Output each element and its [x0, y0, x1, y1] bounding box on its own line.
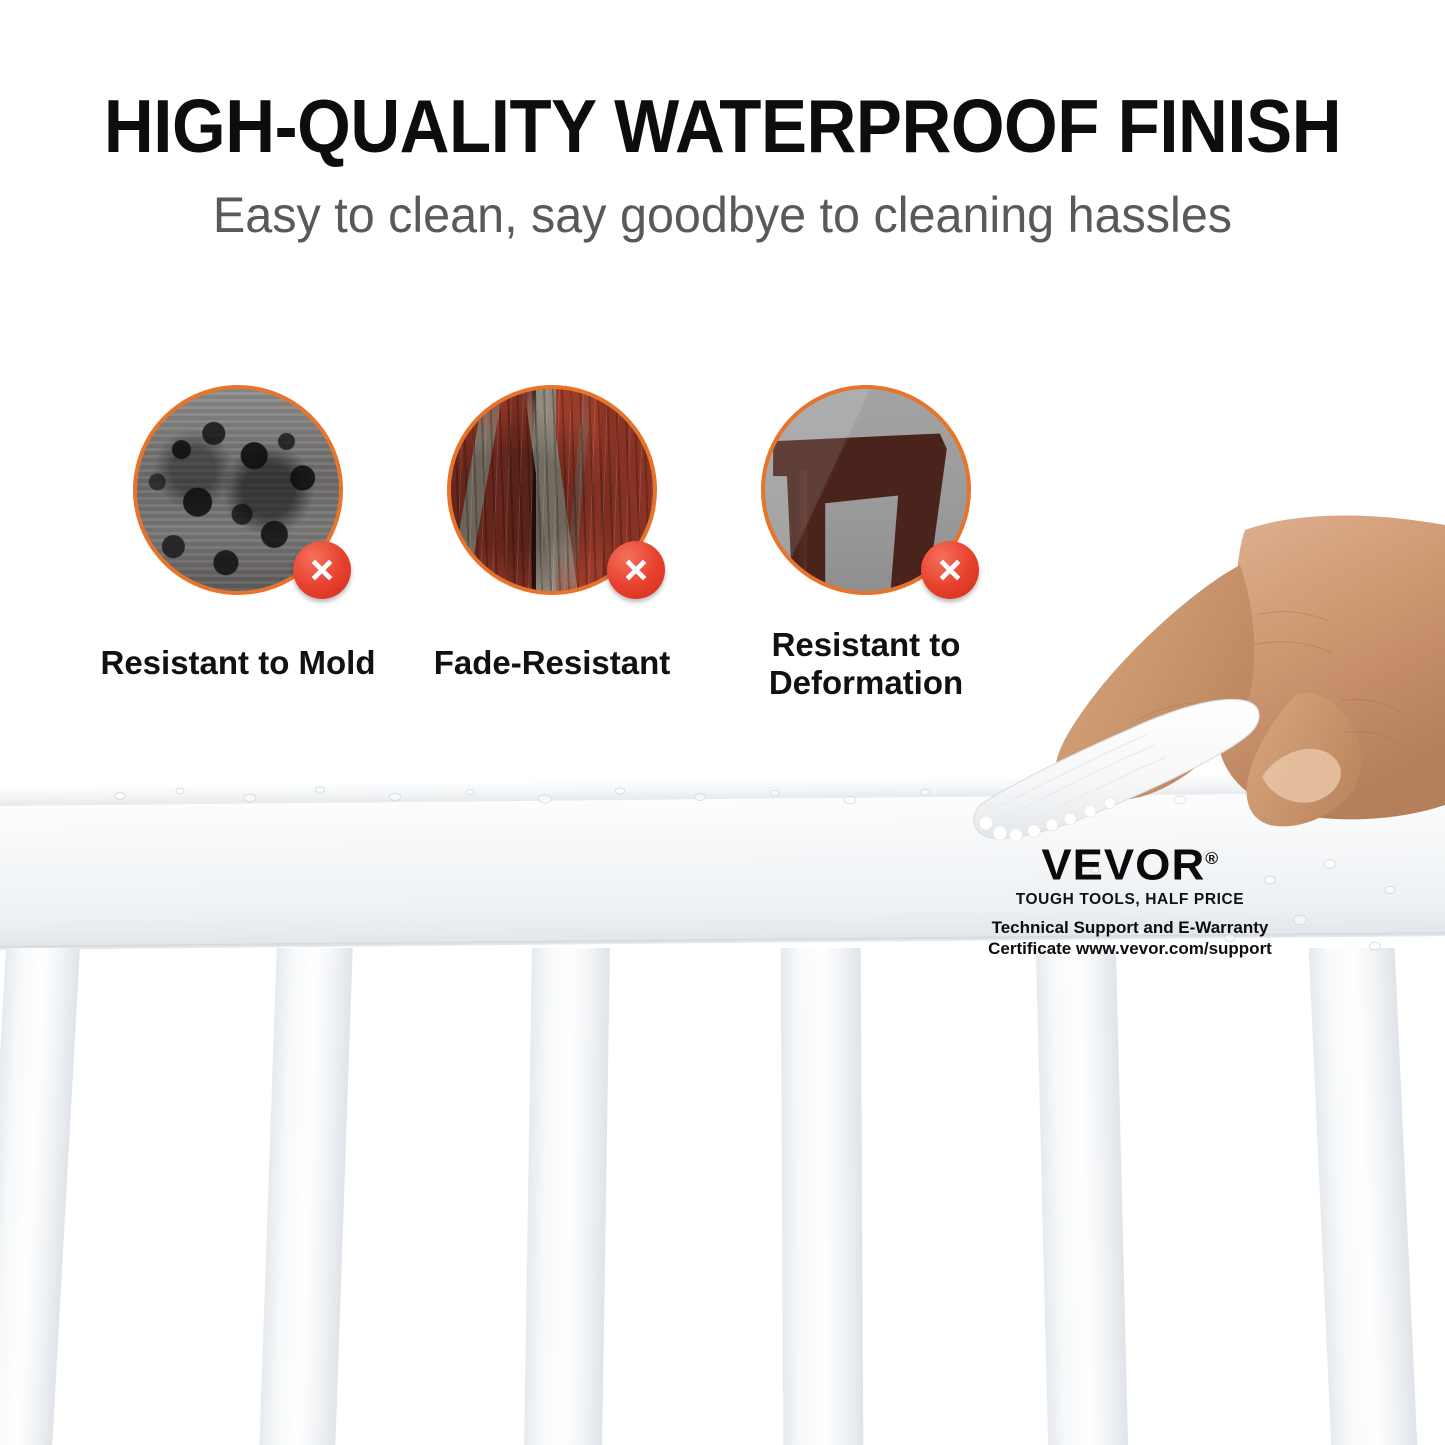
red-x-badge-fade: [607, 541, 665, 599]
brand-block: VEVOR® TOUGH TOOLS, HALF PRICE Technical…: [980, 836, 1280, 959]
registered-trademark-icon: ®: [1205, 849, 1219, 868]
baluster: [259, 948, 352, 1445]
vevor-wordmark: VEVOR: [1041, 841, 1205, 890]
baluster: [524, 948, 610, 1445]
red-x-badge-mold: [293, 541, 351, 599]
feature-badge-mold: [133, 385, 343, 595]
brand-tagline: TOUGH TOOLS, HALF PRICE: [980, 890, 1280, 910]
feature-badge-fade: [447, 385, 657, 595]
support-line-1: Technical Support and E-Warranty: [980, 917, 1280, 938]
feature-caption-mold: Resistant to Mold: [58, 644, 418, 682]
vevor-logo: VEVOR®: [1041, 836, 1219, 889]
baluster: [1036, 948, 1128, 1445]
baluster: [1309, 948, 1418, 1445]
baluster: [0, 948, 80, 1445]
feature-caption-fade: Fade-Resistant: [402, 644, 702, 682]
support-line-2: Certificate www.vevor.com/support: [980, 938, 1280, 959]
product-marketing-image: HIGH-QUALITY WATERPROOF FINISH Easy to c…: [0, 0, 1445, 1445]
baluster: [781, 948, 864, 1445]
